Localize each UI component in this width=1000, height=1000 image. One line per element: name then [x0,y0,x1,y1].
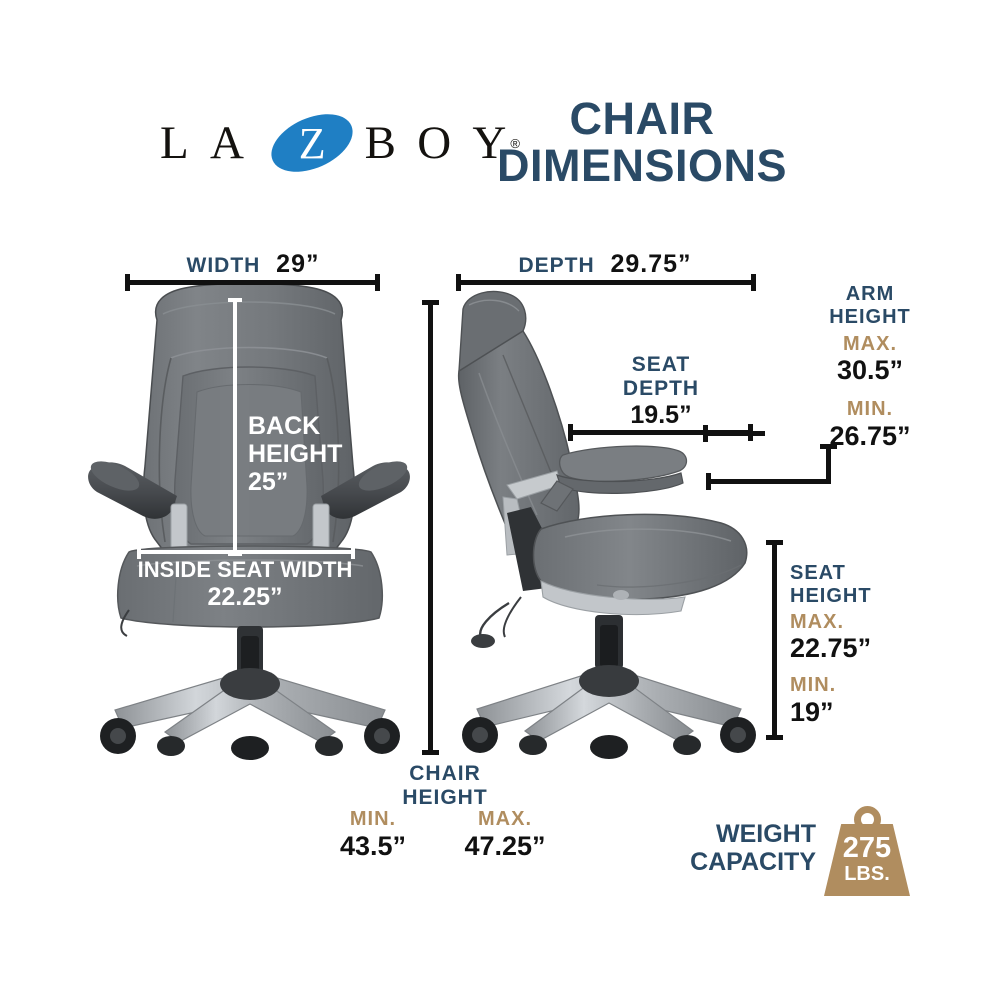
width-label-group: WIDTH 29” [128,250,378,279]
front-view-chair-illustration [85,280,415,760]
width-value: 29” [276,250,319,278]
inside-seat-width-label-group: INSIDE SEAT WIDTH 22.25” [120,558,370,611]
arm-height-max-value: 30.5” [770,355,970,386]
seat-depth-label-line2: DEPTH [566,377,756,401]
logo-letter-l: L [160,116,189,170]
seat-height-label-group: SEAT HEIGHT MAX. 22.75” MIN. 19” [790,562,872,728]
weight-capacity-label-line2: CAPACITY [676,848,816,876]
weight-capacity-label-line1: WEIGHT [676,820,816,848]
chair-height-label-group: CHAIR HEIGHT [345,762,545,810]
logo-z-ellipse: Z [269,112,339,174]
back-height-label-line1: BACK [248,412,342,440]
seat-height-min-value: 19” [790,697,872,728]
page-title-line1: CHAIR [432,96,852,143]
arm-height-label-line1: ARM [770,283,970,306]
inside-seat-width-value: 22.25” [120,583,370,611]
chair-height-label-line2: HEIGHT [345,786,545,810]
seat-depth-label-group: SEAT DEPTH 19.5” [566,353,756,429]
seat-height-min-label: MIN. [790,674,872,697]
chair-height-min-label: MIN. [318,808,428,831]
inside-seat-width-dimension-line [137,550,355,554]
seat-height-max-value: 22.75” [790,633,872,664]
back-height-dimension-line [233,298,237,556]
logo-letter-a: A [210,116,244,170]
weight-icon: 275 LBS. [824,806,910,896]
arm-height-max-label: MAX. [770,333,970,356]
chair-height-min-value: 43.5” [318,831,428,862]
seat-depth-value: 19.5” [566,401,756,430]
arm-height-min-label: MIN. [770,398,970,421]
chair-height-max-group: MAX. 47.25” [445,808,565,862]
chair-height-max-value: 47.25” [445,831,565,862]
weight-capacity-amount: 275 [824,834,910,863]
weight-capacity-label: WEIGHT CAPACITY [676,820,816,876]
page-title-line2: DIMENSIONS [432,143,852,190]
arm-height-min-leader-vertical [826,444,831,484]
arm-height-min-value: 26.75” [770,421,970,452]
inside-seat-width-label: INSIDE SEAT WIDTH [120,558,370,583]
chair-dimensions-infographic: L A Z B O Y ® CHAIR DIMENSIONS [0,0,1000,1000]
width-label: WIDTH [187,254,261,277]
back-height-value: 25” [248,468,342,496]
width-dimension-line [125,280,380,285]
depth-value: 29.75” [610,250,691,278]
chair-height-min-group: MIN. 43.5” [318,808,428,862]
seat-height-max-label: MAX. [790,611,872,634]
chair-height-max-label: MAX. [445,808,565,831]
page-title: CHAIR DIMENSIONS [432,96,852,190]
chair-height-dimension-line [428,300,433,755]
logo-z-letter: Z [269,112,355,174]
arm-height-max-leader-line [703,431,765,436]
depth-dimension-line [456,280,756,285]
seat-height-label-line2: HEIGHT [790,585,872,608]
depth-label: DEPTH [518,254,594,277]
arm-height-label-line2: HEIGHT [770,306,970,329]
seat-height-label-line1: SEAT [790,562,872,585]
depth-label-group: DEPTH 29.75” [455,250,755,279]
arm-height-min-leader-line [706,479,831,484]
arm-height-label-group: ARM HEIGHT MAX. 30.5” MIN. 26.75” [770,283,970,452]
weight-capacity-unit: LBS. [824,864,910,884]
weight-capacity-group: WEIGHT CAPACITY 275 LBS. [676,806,926,896]
chair-height-label-line1: CHAIR [345,762,545,786]
back-height-label-group: BACK HEIGHT 25” [248,412,342,496]
back-height-label-line2: HEIGHT [248,440,342,468]
logo-letter-b: B [365,116,396,170]
seat-depth-label-line1: SEAT [566,353,756,377]
seat-height-dimension-line [772,540,777,740]
